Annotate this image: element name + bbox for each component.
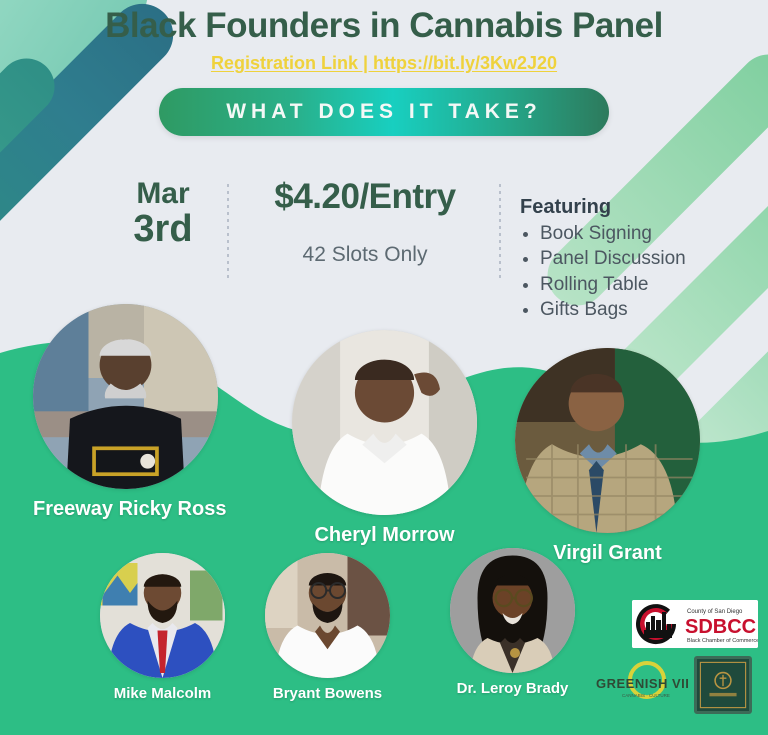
avatar (450, 548, 575, 673)
list-item: Rolling Table (540, 272, 740, 297)
info-row: Mar 3rd $4.20/Entry 42 Slots Only Featur… (0, 178, 768, 303)
speaker-card: Dr. Leroy Brady (450, 548, 575, 697)
date-day: 3rd (108, 210, 218, 250)
sdbcc-logo: County of San Diego SDBCC Black Chamber … (632, 600, 758, 648)
speaker-name: Mike Malcolm (100, 685, 225, 702)
sponsor-logos: County of San Diego SDBCC Black Chamber … (590, 592, 762, 714)
registration-link[interactable]: Registration Link | https://bit.ly/3Kw2J… (0, 53, 768, 74)
page-title: Black Founders in Cannabis Panel (0, 6, 768, 46)
sdbcc-line-top: County of San Diego (687, 609, 743, 615)
gold-emblem-logo (694, 656, 752, 714)
speaker-name: Dr. Leroy Brady (450, 680, 575, 697)
avatar (33, 304, 218, 489)
speaker-card: Freeway Ricky Ross (33, 304, 218, 521)
list-item: Gifts Bags (540, 297, 740, 322)
event-price: $4.20/Entry 42 Slots Only (240, 178, 490, 267)
sdbcc-line-bottom: Black Chamber of Commerce (687, 638, 758, 644)
date-month: Mar (108, 178, 218, 210)
what-does-it-take-banner[interactable]: WHAT DOES IT TAKE? (159, 88, 609, 136)
greenish-vibes-logo: GREENISH VIBES CANNABIS · CULTURE (592, 660, 688, 706)
greenish-vibes-wordmark: GREENISH VIBES (596, 676, 688, 691)
event-date: Mar 3rd (108, 178, 218, 249)
list-item: Book Signing (540, 221, 740, 246)
sdbcc-acronym: SDBCC (685, 616, 756, 638)
pill-label: WHAT DOES IT TAKE? (226, 100, 542, 124)
svg-text:CANNABIS · CULTURE: CANNABIS · CULTURE (622, 693, 670, 698)
speaker-card: Bryant Bowens (265, 553, 390, 702)
avatar (515, 348, 700, 533)
avatar (265, 553, 390, 678)
speaker-name: Freeway Ricky Ross (33, 498, 218, 521)
featuring-list: Book Signing Panel Discussion Rolling Ta… (520, 221, 740, 322)
speaker-card: Cheryl Morrow (292, 330, 477, 547)
dotted-divider-2 (499, 184, 501, 282)
avatar (100, 553, 225, 678)
avatar (292, 330, 477, 515)
speaker-card: Mike Malcolm (100, 553, 225, 702)
slots-available: 42 Slots Only (240, 243, 490, 267)
speaker-name: Bryant Bowens (265, 685, 390, 702)
featuring-title: Featuring (520, 196, 740, 219)
flyer-canvas: Black Founders in Cannabis Panel Registr… (0, 0, 768, 735)
list-item: Panel Discussion (540, 246, 740, 271)
dotted-divider-1 (227, 184, 229, 282)
price-amount: $4.20/Entry (240, 178, 490, 217)
featuring-section: Featuring Book Signing Panel Discussion … (520, 196, 740, 322)
speaker-card: Virgil Grant (515, 348, 700, 565)
speaker-name: Cheryl Morrow (292, 524, 477, 547)
